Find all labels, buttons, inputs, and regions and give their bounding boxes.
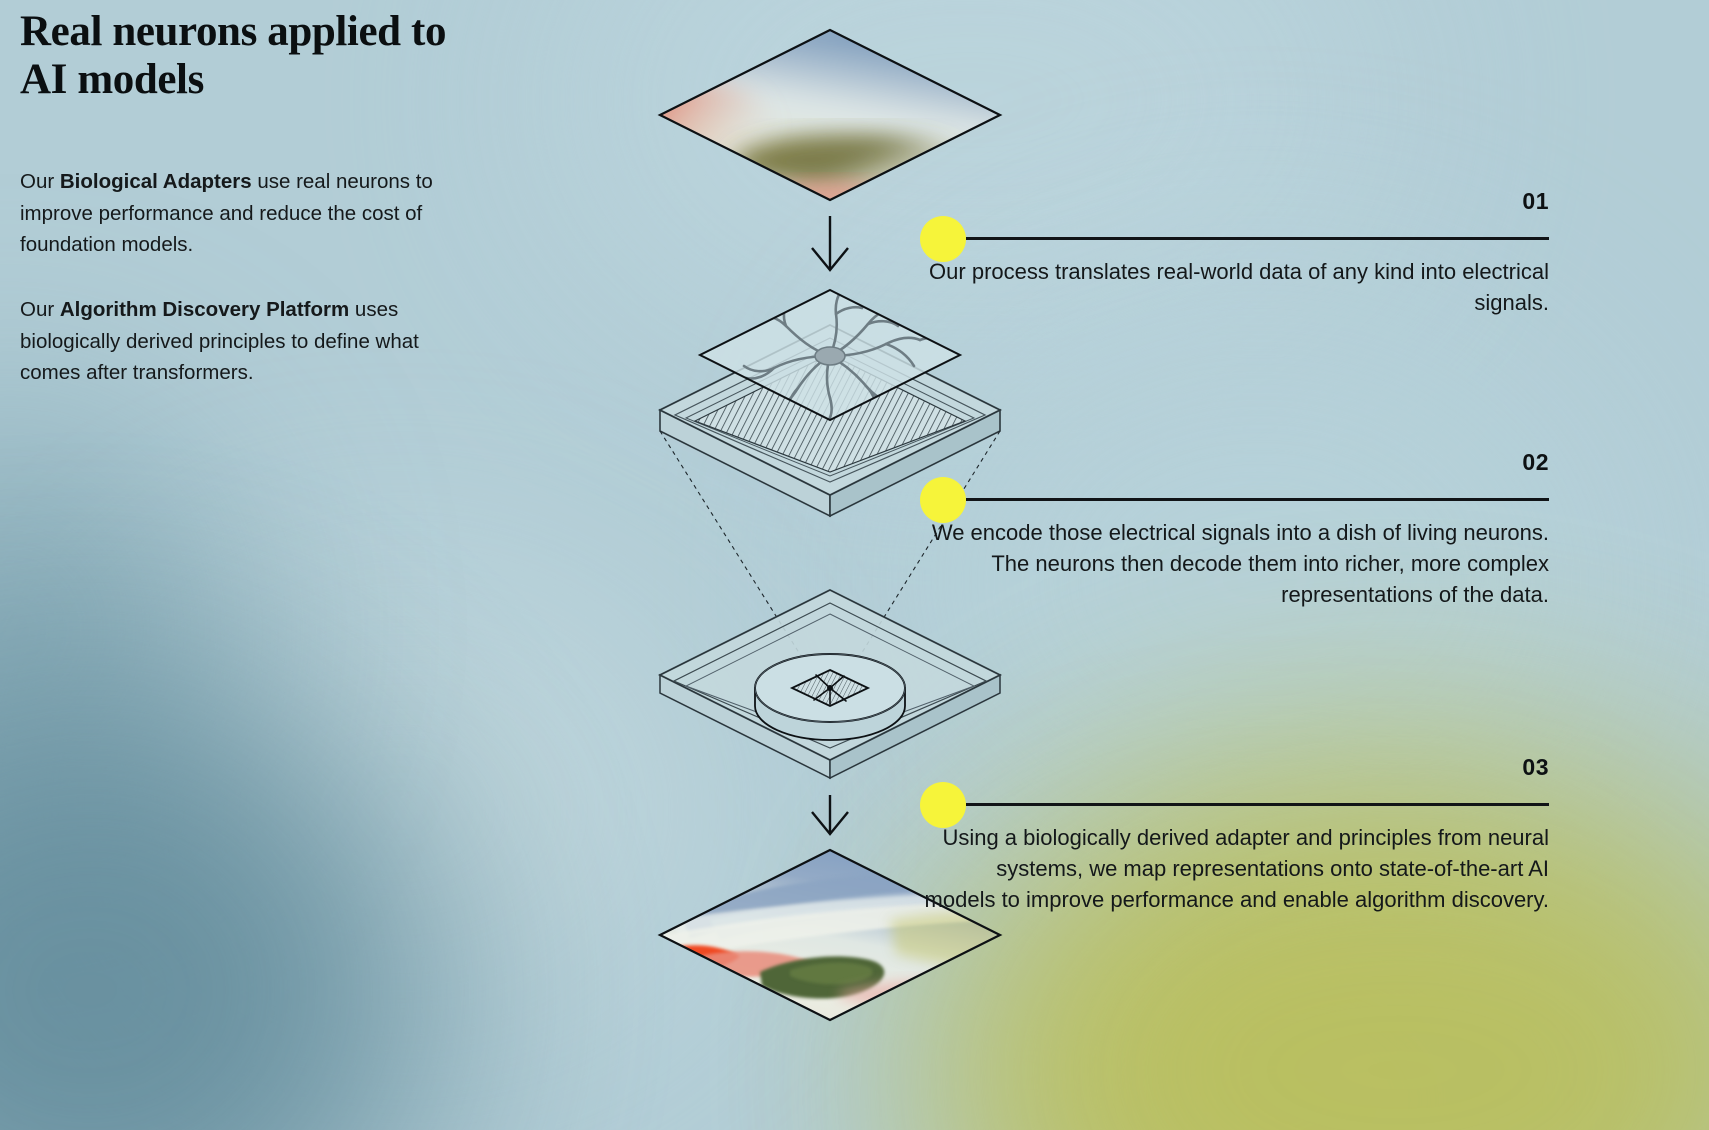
intro-paragraph-1-prefix: Our	[20, 170, 60, 193]
step-text-01: Our process translates real-world data o…	[920, 256, 1549, 318]
intro-paragraph-2: Our Algorithm Discovery Platform uses bi…	[20, 294, 465, 388]
input-image-plane	[640, 20, 1010, 214]
intro-paragraph-1: Our Biological Adapters use real neurons…	[20, 166, 465, 260]
infographic-page: Real neurons applied to AI models Our Bi…	[0, 0, 1709, 1130]
step-number-01: 01	[1522, 188, 1549, 215]
step-text-02: We encode those electrical signals into …	[920, 517, 1549, 611]
step-text-03: Using a biologically derived adapter and…	[920, 822, 1549, 916]
intro-paragraph-2-prefix: Our	[20, 298, 60, 321]
step-rule-03	[966, 803, 1549, 806]
page-title: Real neurons applied to AI models	[20, 8, 490, 104]
step-rule-01	[966, 237, 1549, 240]
neuron-soma	[815, 347, 845, 365]
intro-paragraph-2-bold: Algorithm Discovery Platform	[60, 298, 349, 321]
step-number-02: 02	[1522, 449, 1549, 476]
step-number-03: 03	[1522, 754, 1549, 781]
intro-column: Real neurons applied to AI models Our Bi…	[20, 8, 490, 422]
arrow-input-to-neurons	[812, 216, 848, 270]
step-rule-02	[966, 498, 1549, 501]
intro-paragraph-1-bold: Biological Adapters	[60, 170, 252, 193]
arrow-dish-to-output	[812, 795, 848, 834]
neuron-dish-assembly	[660, 590, 1000, 778]
